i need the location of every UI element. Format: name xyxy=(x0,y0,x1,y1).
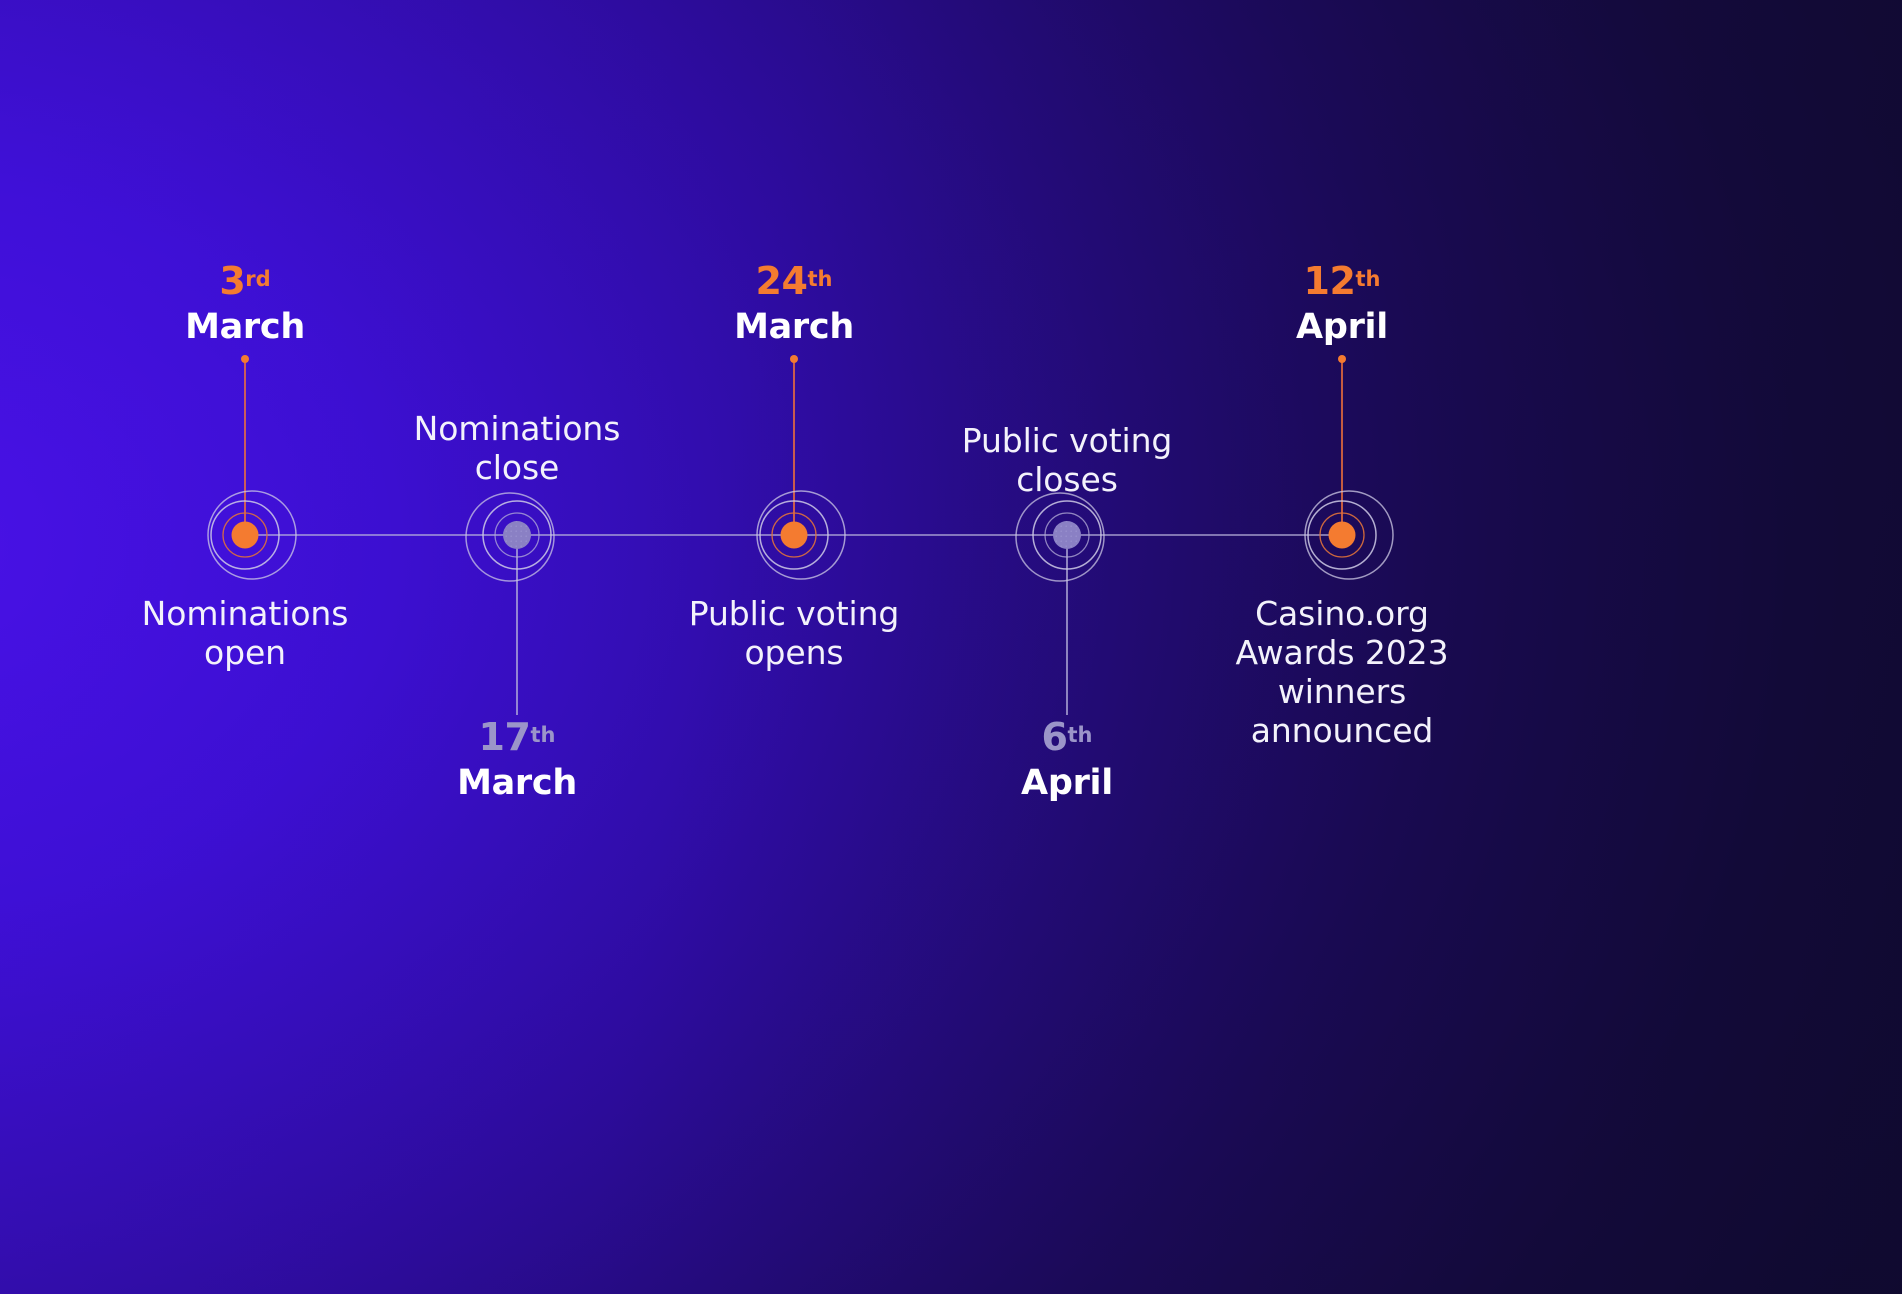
node-dot-2 xyxy=(503,521,531,549)
connector-endpoint-dot-1 xyxy=(241,355,249,363)
milestone-day-suffix-1: rd xyxy=(245,267,270,291)
milestone-node-public-voting-closes[interactable] xyxy=(1016,493,1104,715)
infographic-canvas: 3rd March Nominations open Nominations c… xyxy=(0,0,1902,1294)
milestone-desc-line-5-1: Casino.org xyxy=(1236,595,1449,634)
milestone-desc-line-4-1: Public voting xyxy=(962,422,1173,461)
milestone-desc-line-1-2: open xyxy=(142,634,349,673)
milestone-day-2: 17 xyxy=(479,715,531,759)
milestone-desc-line-5-3: winners xyxy=(1236,673,1449,712)
node-dot-5 xyxy=(1329,522,1356,549)
milestone-day-4: 6 xyxy=(1042,715,1068,759)
milestone-desc-line-1-1: Nominations xyxy=(142,595,349,634)
milestone-desc-line-3-2: opens xyxy=(689,634,900,673)
milestone-desc-line-5-2: Awards 2023 xyxy=(1236,634,1449,673)
milestone-description-winners-announced: Casino.org Awards 2023 winners announced xyxy=(1236,595,1449,751)
milestone-date-nominations-close: 17th March xyxy=(457,718,577,801)
milestone-month-2: March xyxy=(457,766,577,801)
milestone-description-nominations-open: Nominations open xyxy=(142,595,349,673)
milestone-month-1: March xyxy=(185,310,305,345)
milestone-month-4: April xyxy=(1021,766,1113,801)
milestone-desc-line-2-1: Nominations xyxy=(414,410,621,449)
milestone-date-public-voting-opens: 24th March xyxy=(734,262,854,345)
milestone-day-1: 3 xyxy=(219,259,245,303)
node-dot-1 xyxy=(232,522,259,549)
milestone-desc-line-2-2: close xyxy=(414,449,621,488)
milestone-date-winners-announced: 12th April xyxy=(1296,262,1388,345)
milestone-node-nominations-open[interactable] xyxy=(208,355,296,579)
milestone-desc-line-4-2: closes xyxy=(962,461,1173,500)
milestone-description-public-voting-closes: Public voting closes xyxy=(962,422,1173,500)
milestone-date-public-voting-closes: 6th April xyxy=(1021,718,1113,801)
milestone-date-nominations-open: 3rd March xyxy=(185,262,305,345)
milestone-day-5: 12 xyxy=(1304,259,1356,303)
milestone-day-suffix-2: th xyxy=(530,723,555,747)
node-dot-3 xyxy=(781,522,808,549)
connector-endpoint-dot-3 xyxy=(790,355,798,363)
milestone-day-3: 24 xyxy=(756,259,808,303)
milestone-description-nominations-close: Nominations close xyxy=(414,410,621,488)
milestone-desc-line-3-1: Public voting xyxy=(689,595,900,634)
milestone-desc-line-5-4: announced xyxy=(1236,712,1449,751)
milestone-node-nominations-close[interactable] xyxy=(466,493,554,715)
milestone-day-suffix-3: th xyxy=(807,267,832,291)
milestone-day-suffix-4: th xyxy=(1067,723,1092,747)
connector-endpoint-dot-5 xyxy=(1338,355,1346,363)
milestone-month-3: March xyxy=(734,310,854,345)
milestone-month-5: April xyxy=(1296,310,1388,345)
milestone-description-public-voting-opens: Public voting opens xyxy=(689,595,900,673)
milestone-node-public-voting-opens[interactable] xyxy=(757,355,845,579)
milestone-day-suffix-5: th xyxy=(1355,267,1380,291)
milestone-node-winners-announced[interactable] xyxy=(1305,355,1393,579)
node-dot-4 xyxy=(1053,521,1081,549)
